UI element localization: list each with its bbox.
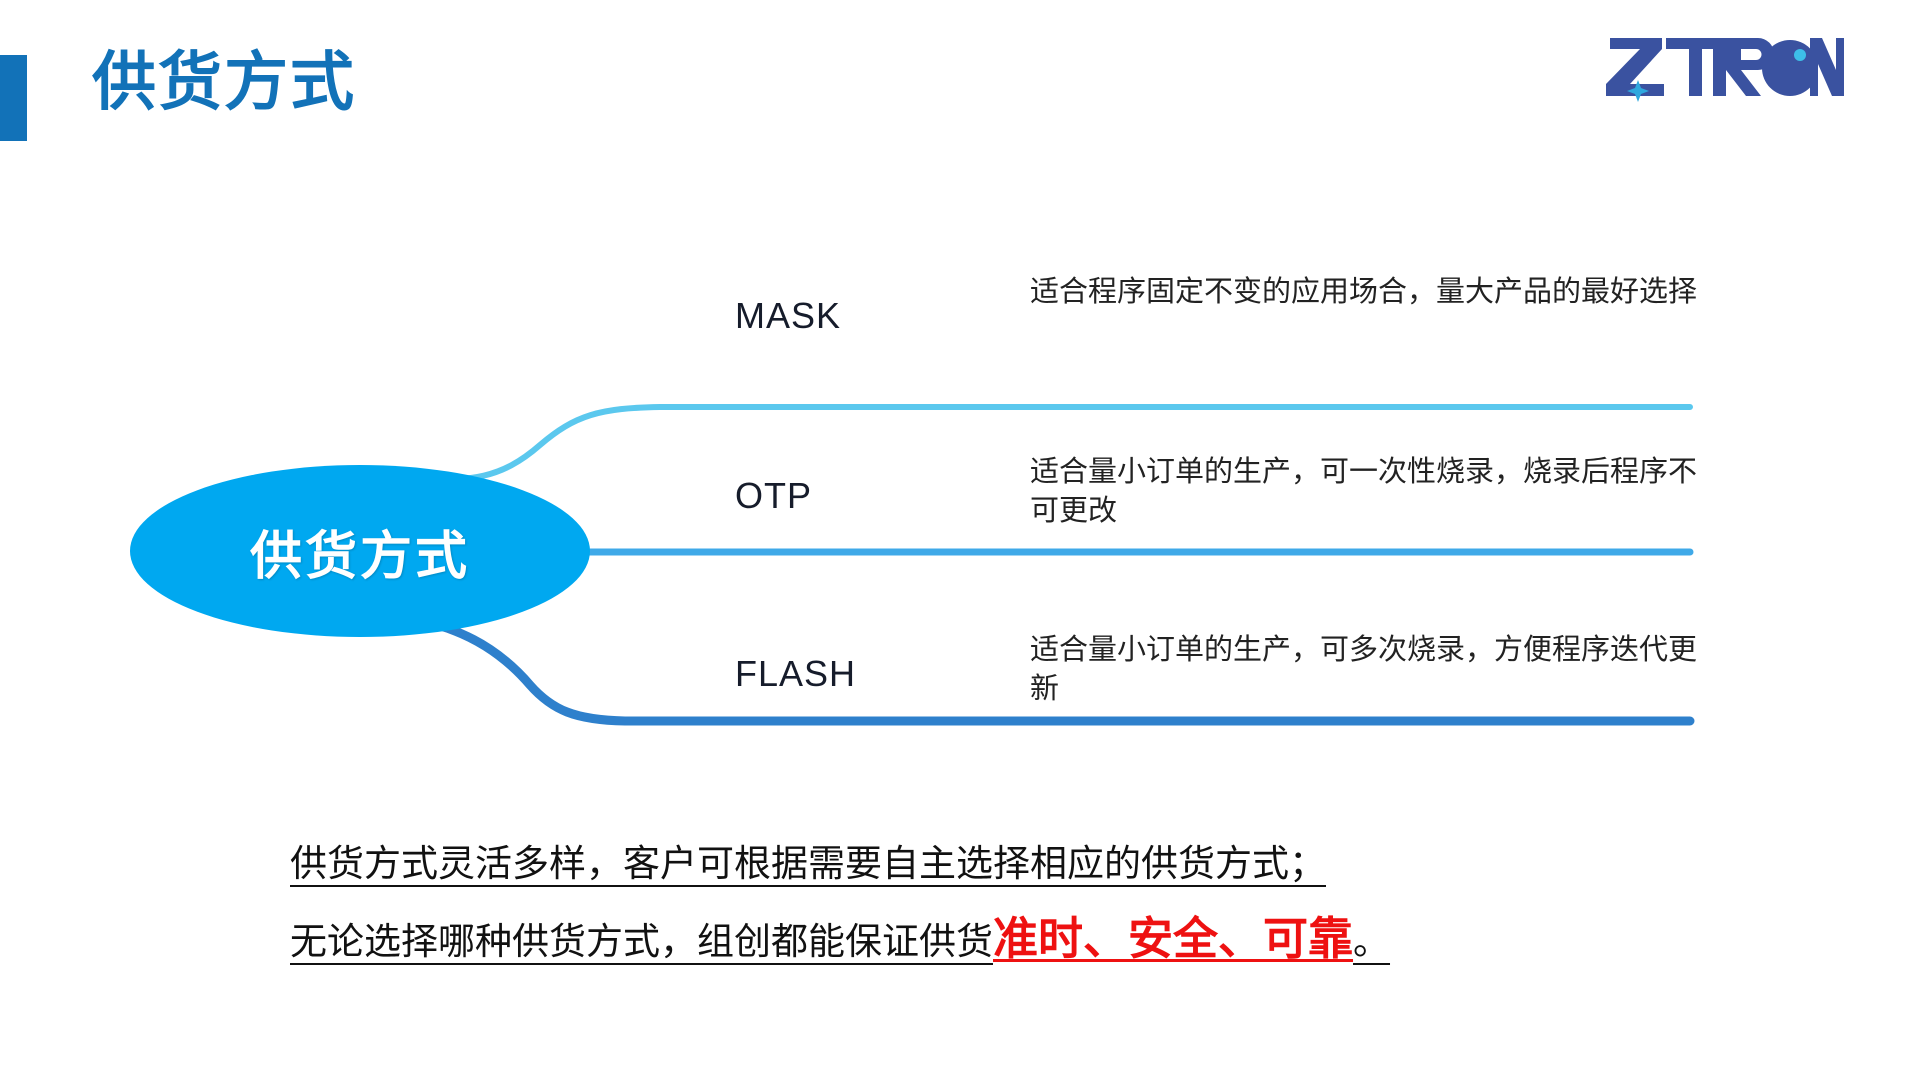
summary-line-2-emphasis: 准时、安全、可靠 [993, 913, 1353, 964]
mindmap-diagram: 供货方式 MASK OTP FLASH 适合程序固定不变的应用场合，量大产品的最… [0, 180, 1919, 760]
summary-block: 供货方式灵活多样，客户可根据需要自主选择相应的供货方式； 无论选择哪种供货方式，… [290, 845, 1690, 995]
branch-description-mask: 适合程序固定不变的应用场合，量大产品的最好选择 [1030, 273, 1710, 312]
mindmap-center-node[interactable]: 供货方式 [130, 465, 590, 637]
page-title: 供货方式 [92, 46, 356, 120]
branch-label-otp: OTP [735, 475, 812, 517]
branch-description-flash: 适合量小订单的生产，可多次烧录，方便程序迭代更新 [1030, 631, 1710, 709]
title-accent-bar [0, 55, 27, 141]
summary-line-1-text: 供货方式灵活多样，客户可根据需要自主选择相应的供货方式； [290, 843, 1326, 884]
branch-label-mask: MASK [735, 295, 841, 337]
summary-line-2: 无论选择哪种供货方式，组创都能保证供货准时、安全、可靠。 [290, 916, 1690, 961]
branch-label-flash: FLASH [735, 653, 856, 695]
ztron-logo [1604, 22, 1844, 108]
summary-line-2-prefix: 无论选择哪种供货方式，组创都能保证供货 [290, 921, 993, 962]
branch-description-otp: 适合量小订单的生产，可一次性烧录，烧录后程序不可更改 [1030, 453, 1710, 531]
summary-line-1: 供货方式灵活多样，客户可根据需要自主选择相应的供货方式； [290, 845, 1690, 882]
mindmap-center-label: 供货方式 [250, 514, 470, 589]
summary-line-2-suffix: 。 [1353, 921, 1390, 962]
